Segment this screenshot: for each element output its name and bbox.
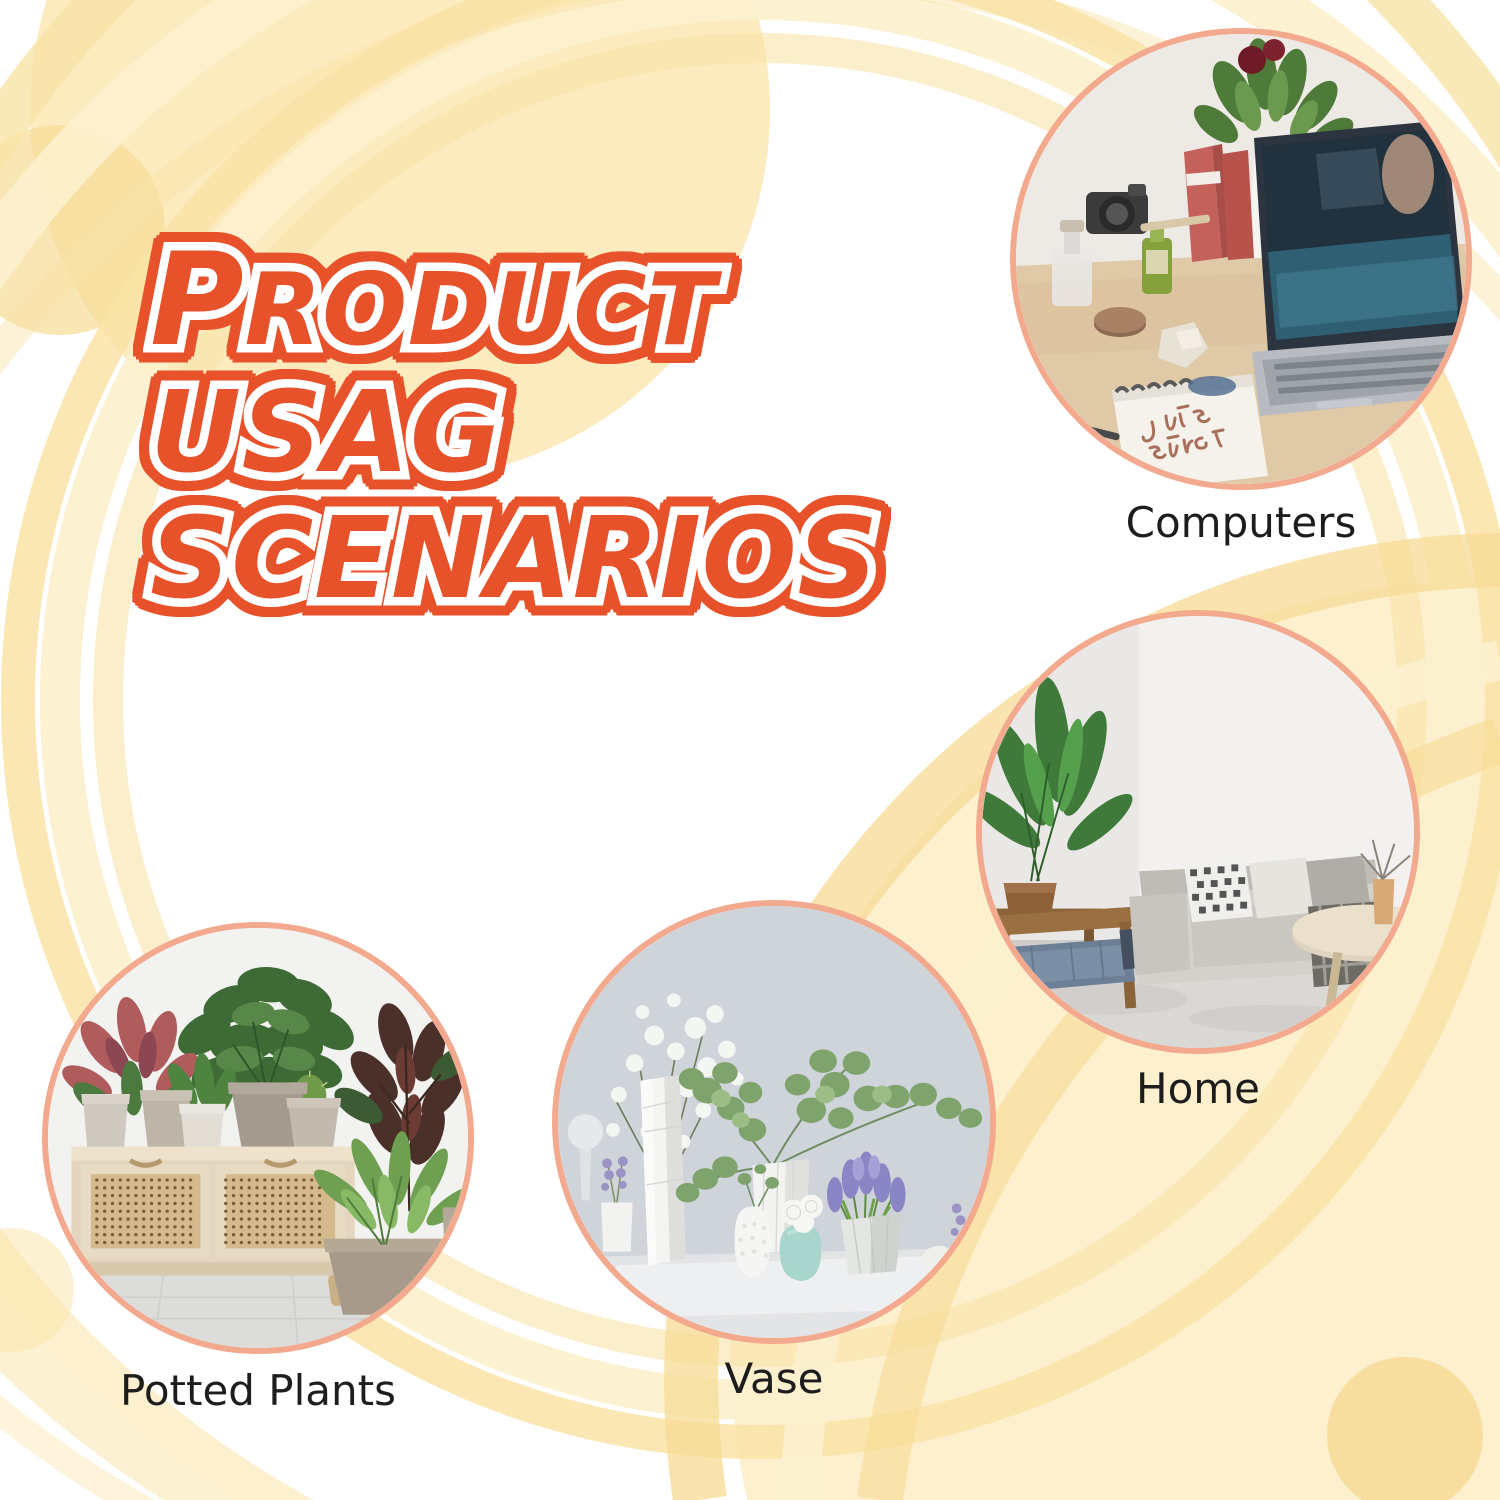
page-title: PRODUCT USAG SCENARIOS bbox=[150, 238, 950, 615]
scenario-home-label: Home bbox=[976, 1064, 1420, 1113]
scenario-computers-label: Computers bbox=[1010, 498, 1472, 547]
infographic-canvas: PRODUCT USAG SCENARIOS bbox=[0, 0, 1500, 1500]
scenario-vase-label: Vase bbox=[552, 1354, 996, 1403]
scenario-potted-plants-photo-ring[interactable] bbox=[42, 922, 474, 1354]
title-initial: P bbox=[150, 226, 244, 375]
desk-with-laptop-photo bbox=[1016, 34, 1466, 484]
title-line1-rest: RODUCT bbox=[244, 251, 716, 368]
title-line-3: SCENARIOS bbox=[150, 505, 950, 615]
scenario-potted-plants-label: Potted Plants bbox=[42, 1366, 474, 1415]
decor-dot-bottom-right bbox=[1327, 1357, 1483, 1500]
scenario-vase-photo-ring[interactable] bbox=[552, 900, 996, 1344]
title-line-1: PRODUCT bbox=[150, 238, 950, 363]
living-room-photo bbox=[982, 616, 1414, 1048]
decor-blob-top-left-small bbox=[0, 125, 165, 335]
potted-plants-cabinet-photo bbox=[48, 928, 468, 1348]
title-line-2: USAG bbox=[150, 379, 950, 489]
white-vases-photo bbox=[558, 906, 990, 1338]
decor-dot-bottom-left bbox=[0, 1228, 74, 1352]
scenario-home-photo-ring[interactable] bbox=[976, 610, 1420, 1054]
scenario-computers-photo-ring[interactable] bbox=[1010, 28, 1472, 490]
